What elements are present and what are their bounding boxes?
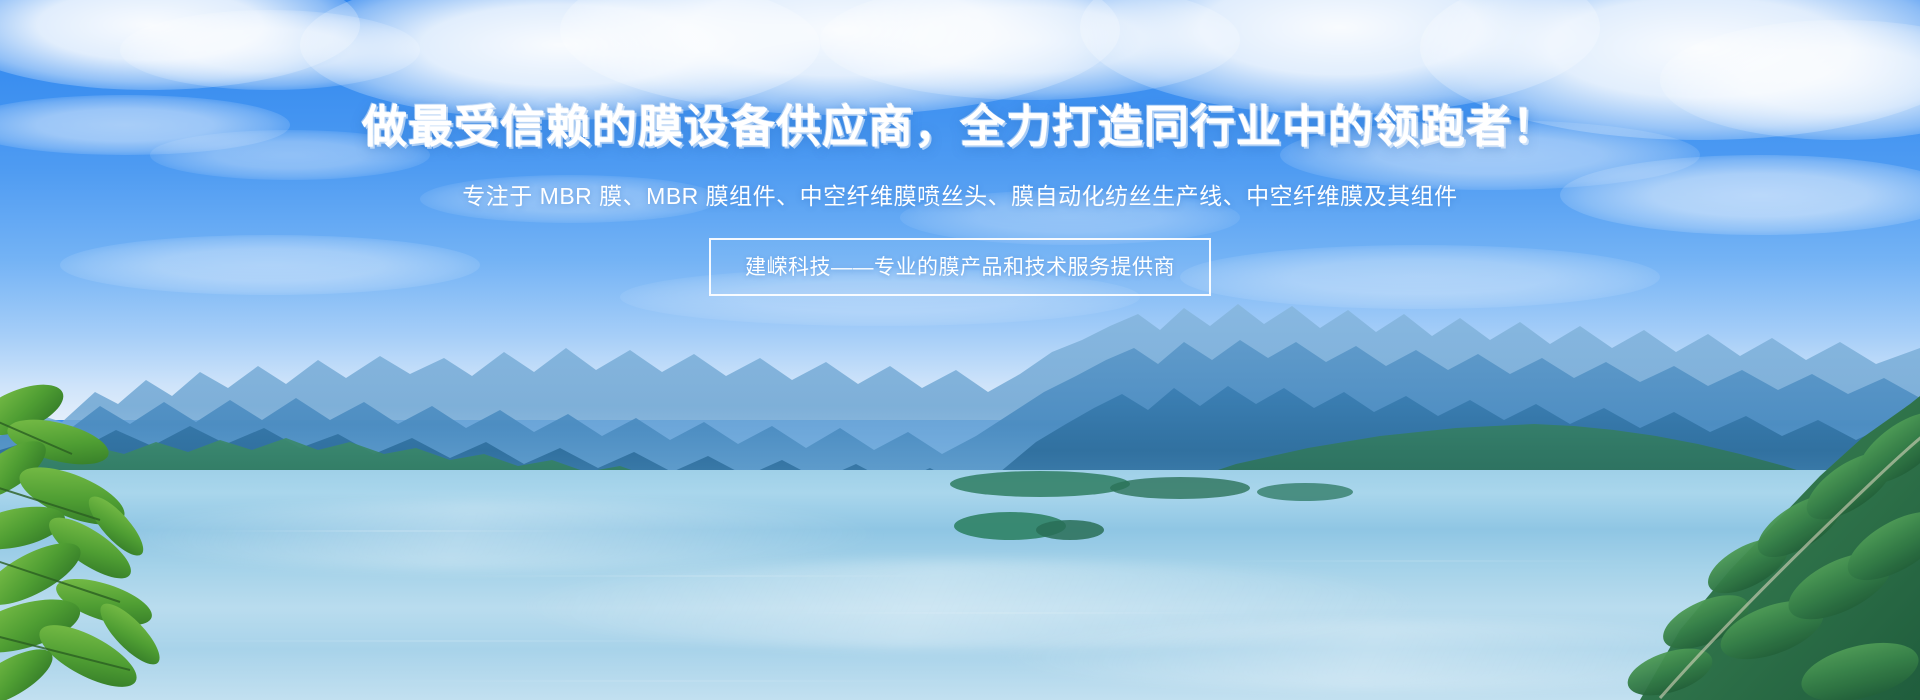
foreground-foliage-right [1510,380,1920,700]
water-ripple [420,575,980,577]
foreground-foliage-left [0,350,280,700]
hero-banner: 做最受信赖的膜设备供应商，全力打造同行业中的领跑者！ 专注于 MBR 膜、MBR… [0,0,1920,700]
water-ripple [320,680,1020,682]
water-ripple [760,612,1280,614]
banner-tagline-box[interactable]: 建嵘科技——专业的膜产品和技术服务提供商 [709,238,1211,296]
